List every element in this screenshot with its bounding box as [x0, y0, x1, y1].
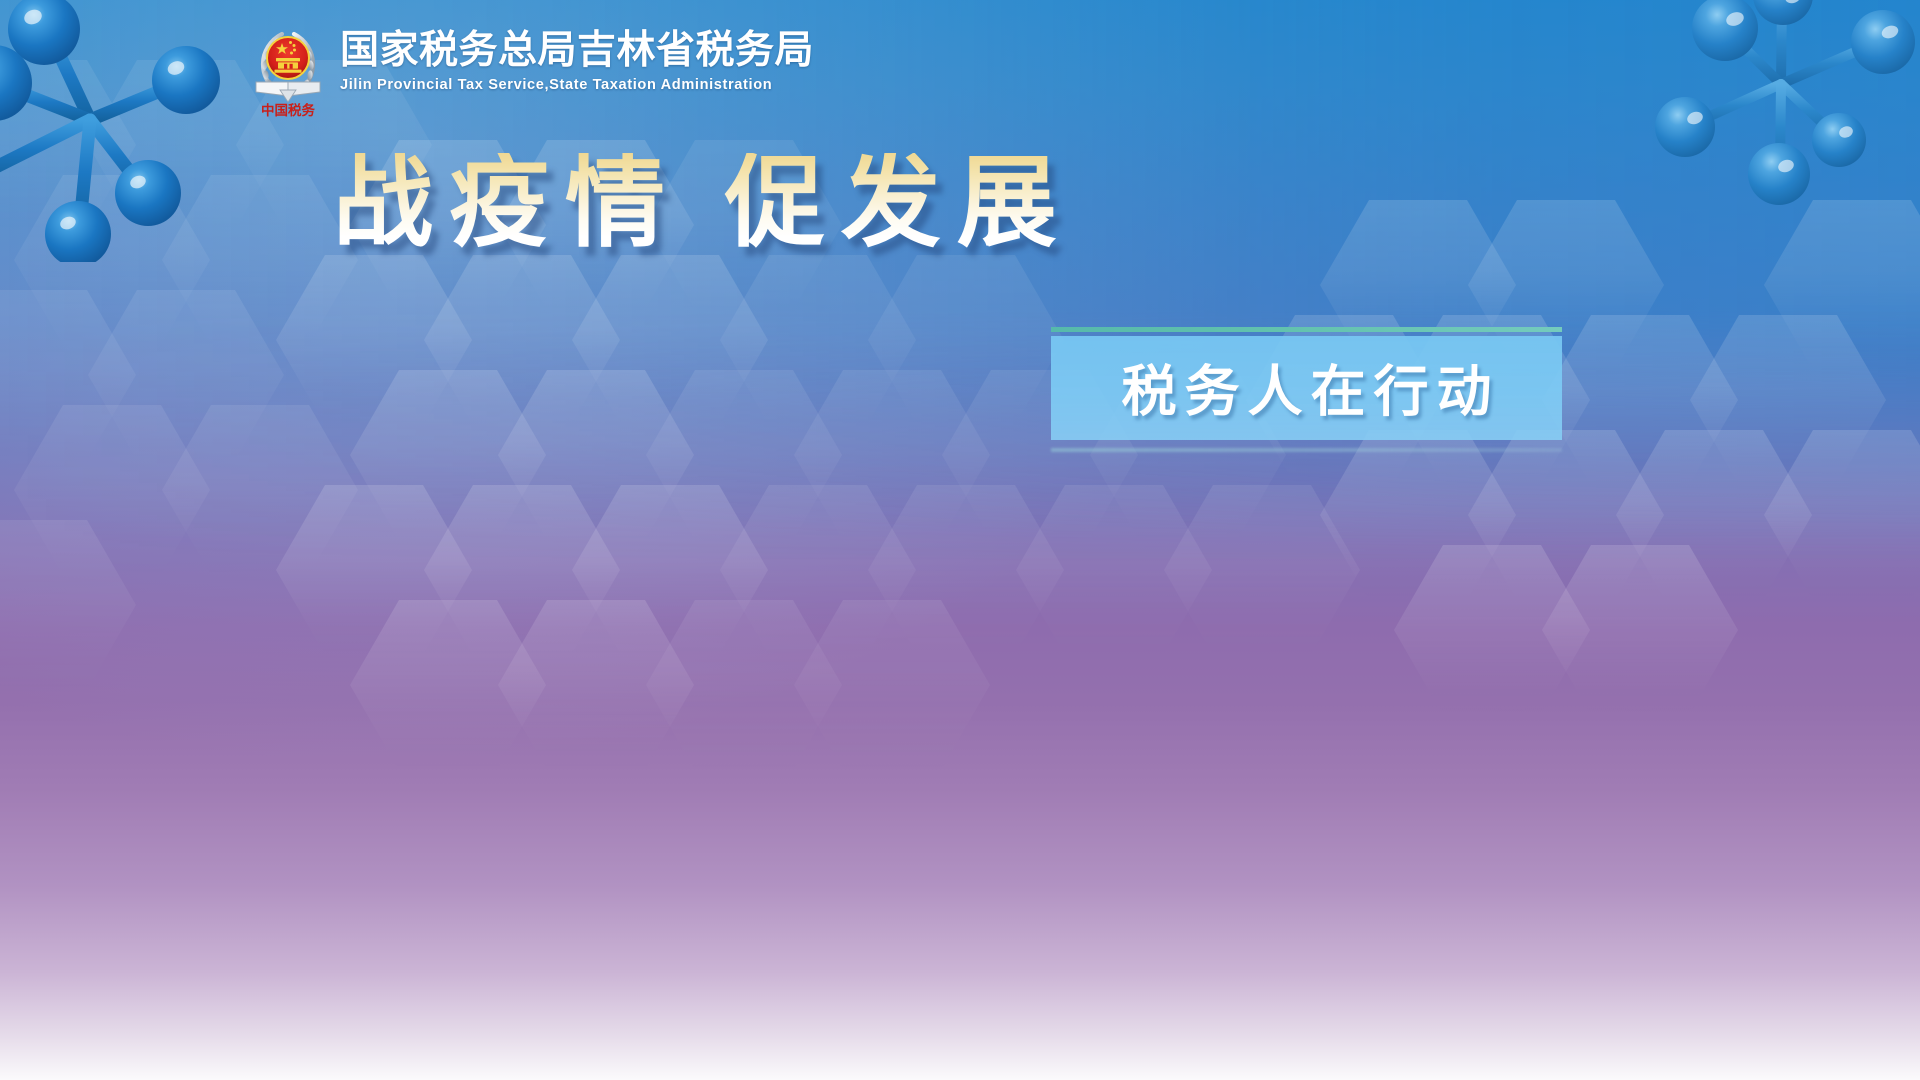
subtitle-box: 税务人在行动 — [1051, 336, 1562, 440]
subtitle-panel: 税务人在行动 — [1051, 327, 1562, 440]
emblem-caption: 中国税务 — [261, 102, 315, 118]
subtitle-text: 税务人在行动 — [1051, 346, 1562, 426]
china-tax-emblem-icon: 中国税务 — [252, 22, 324, 118]
agency-name-en: Jilin Provincial Tax Service,State Taxat… — [340, 77, 814, 93]
masthead: 中国税务 国家税务总局吉林省税务局 Jilin Provincial Tax S… — [252, 22, 814, 118]
agency-name-cn: 国家税务总局吉林省税务局 — [340, 31, 814, 72]
masthead-text-block: 国家税务总局吉林省税务局 Jilin Provincial Tax Servic… — [340, 22, 814, 93]
subtitle-top-rule — [1051, 327, 1562, 332]
page-title: 战疫情 促发展 — [333, 153, 1073, 253]
banner-canvas: 中国税务 国家税务总局吉林省税务局 Jilin Provincial Tax S… — [0, 0, 1920, 1080]
